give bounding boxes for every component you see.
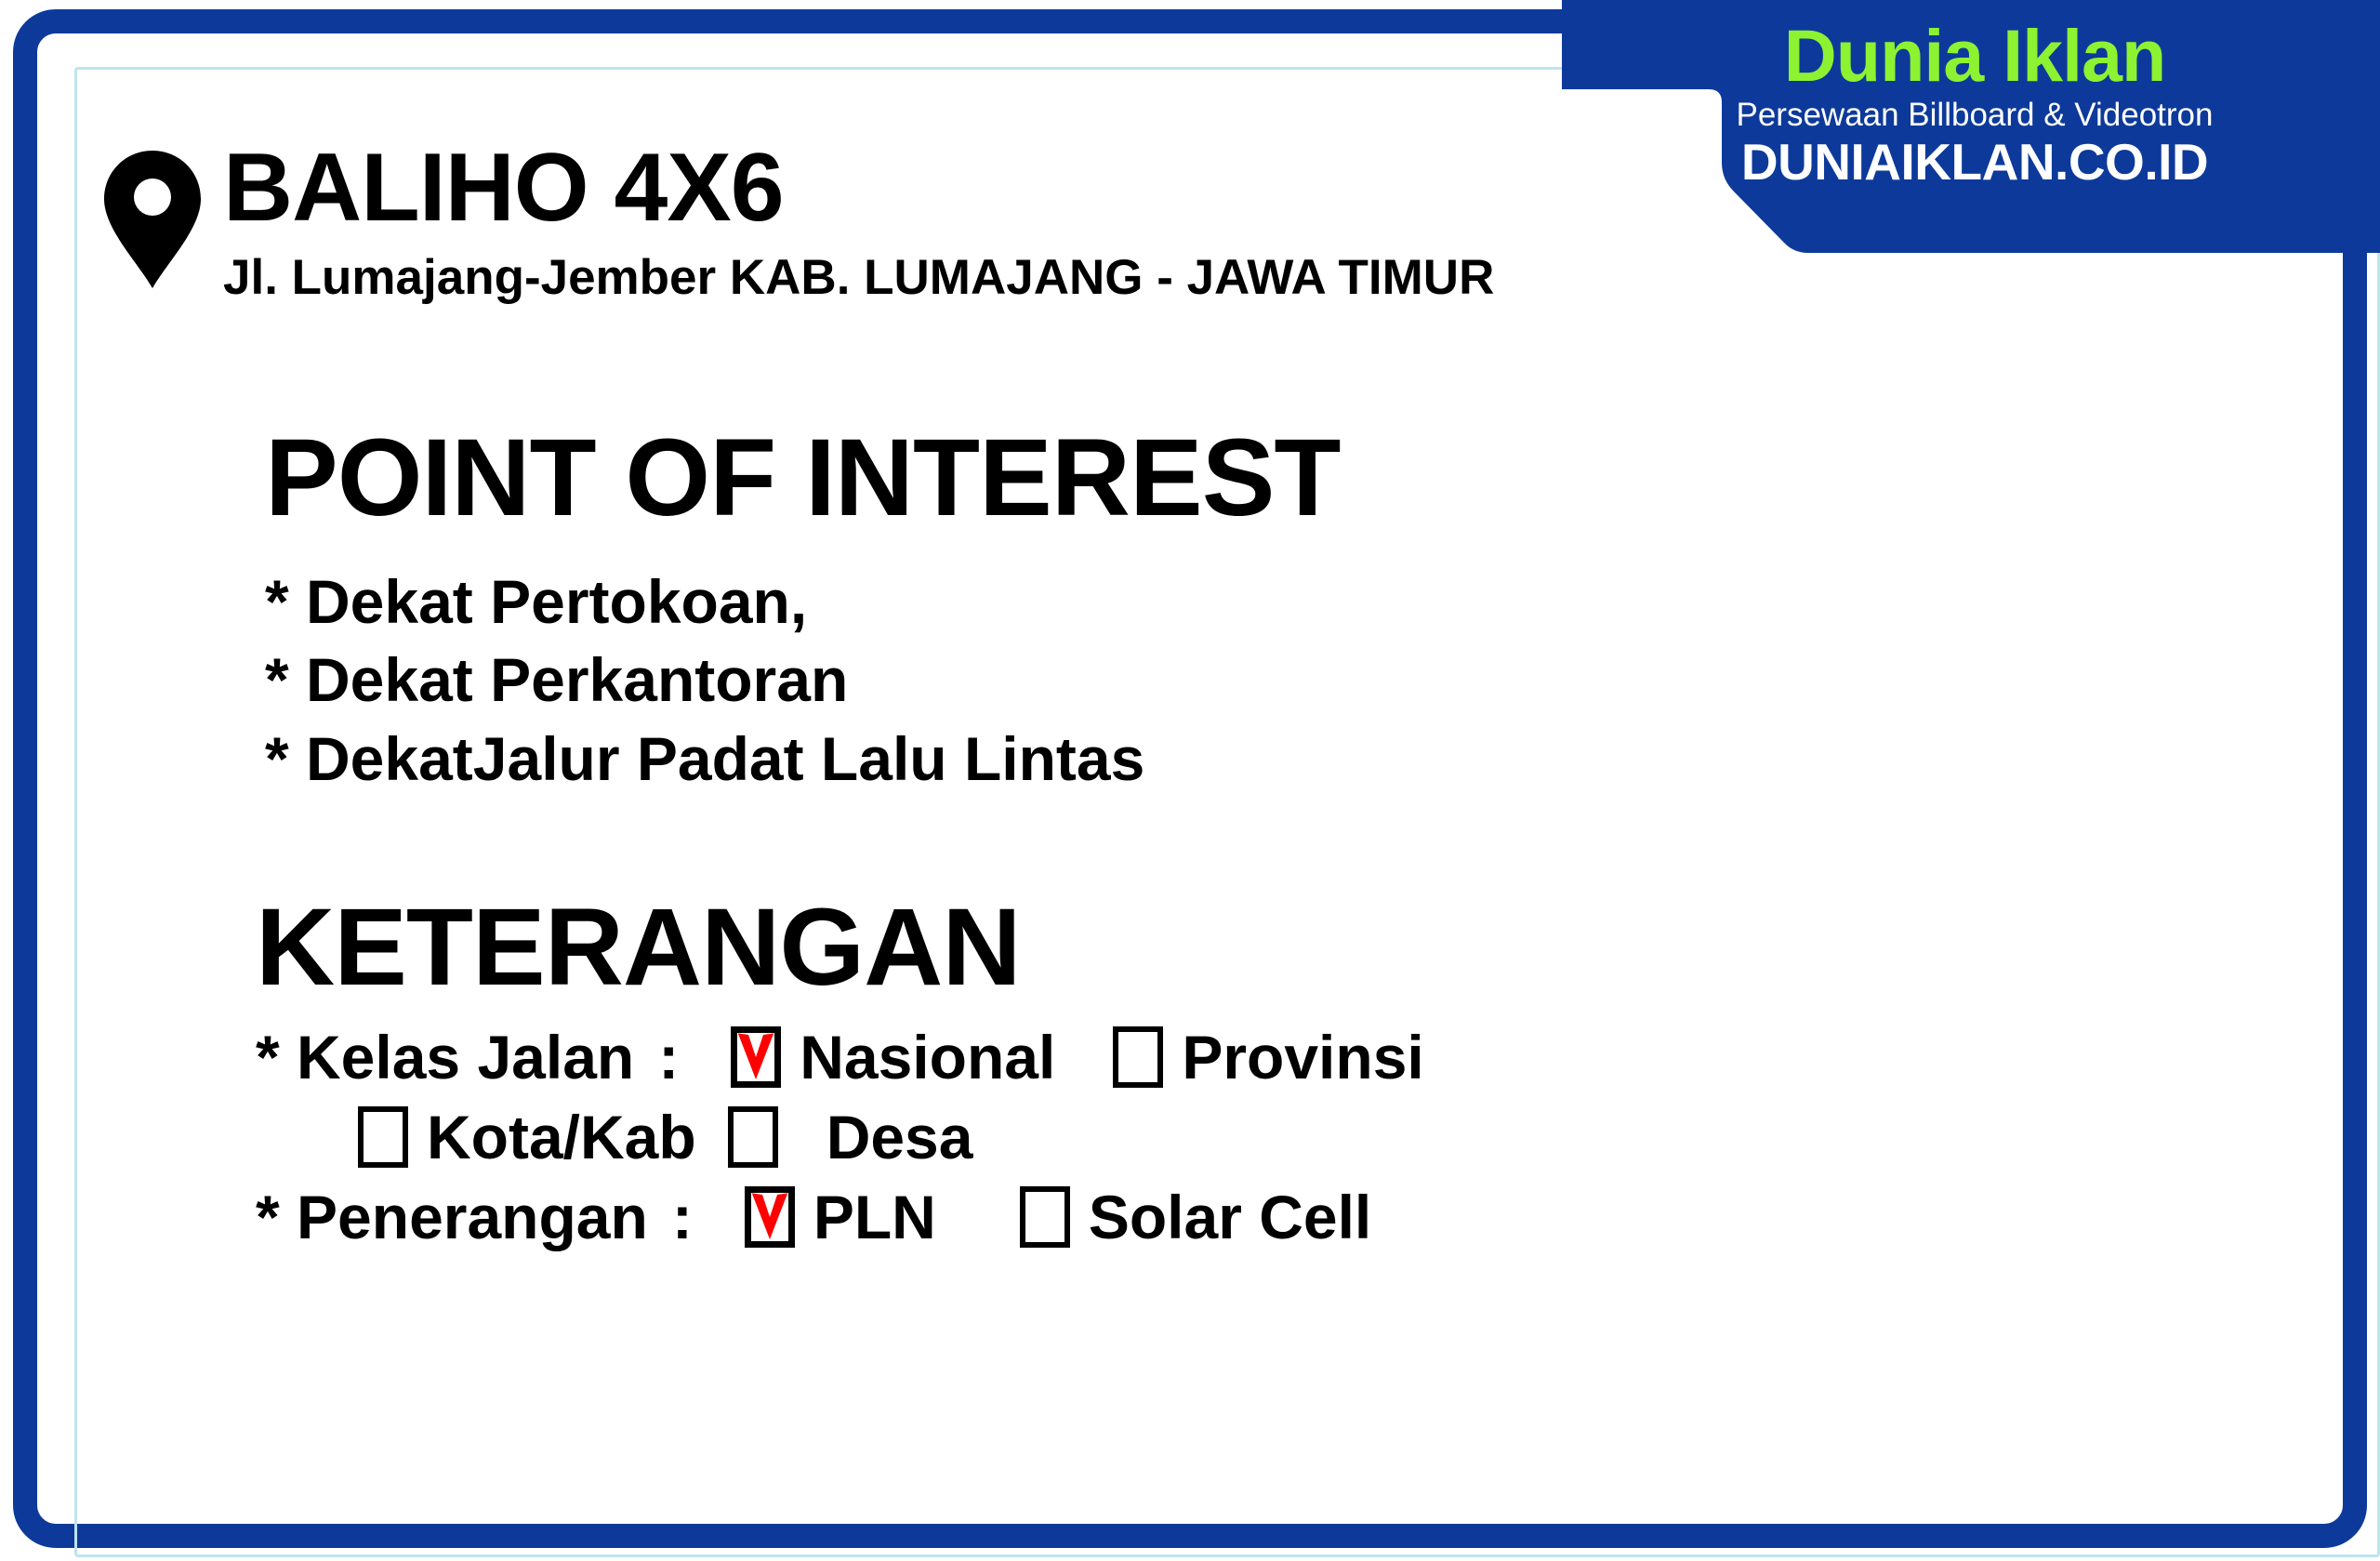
checkbox-kota-kab[interactable] (358, 1106, 408, 1168)
option-label-kota-kab: Kota/Kab (427, 1106, 696, 1168)
option-label-provinsi: Provinsi (1182, 1026, 1423, 1088)
keterangan-heading: KETERANGAN (256, 893, 1424, 1002)
location-pin-glyph (102, 149, 203, 290)
penerangan-label: * Penerangan (256, 1186, 648, 1248)
checkbox-nasional[interactable] (731, 1026, 781, 1088)
checkmark-icon (747, 1189, 792, 1245)
option-label-desa: Desa (826, 1106, 973, 1168)
option-label-nasional: Nasional (800, 1026, 1055, 1088)
brand-tagline: Persewaan Billboard & Videotron (1649, 97, 2300, 134)
point-of-interest-heading: POINT OF INTEREST (265, 423, 1341, 533)
kelas-jalan-colon: : (658, 1026, 679, 1088)
header-text-block: BALIHO 4X6 Jl. Lumajang-Jember KAB. LUMA… (223, 139, 1494, 304)
checkbox-desa[interactable] (728, 1106, 778, 1168)
point-of-interest-section: POINT OF INTEREST * Dekat Pertokoan, * D… (265, 423, 1341, 798)
list-item: * Dekat Pertokoan, (265, 562, 1341, 641)
list-item: * Dekat Perkantoran (265, 641, 1341, 719)
point-of-interest-list: * Dekat Pertokoan, * Dekat Perkantoran *… (265, 562, 1341, 798)
brand-logo-text: Dunia Iklan Persewaan Billboard & Videot… (1649, 20, 2300, 190)
keterangan-row-kelas-jalan: * Kelas Jalan : Nasional Provinsi (256, 1026, 1424, 1088)
option-kota-kab[interactable]: Kota/Kab (358, 1106, 696, 1168)
keterangan-row-penerangan: * Penerangan : PLN Solar Cell (256, 1186, 1424, 1248)
option-label-pln: PLN (813, 1186, 936, 1248)
list-item: * DekatJalur Padat Lalu Lintas (265, 720, 1341, 798)
billboard-header: BALIHO 4X6 Jl. Lumajang-Jember KAB. LUMA… (102, 139, 1494, 304)
penerangan-colon: : (672, 1186, 693, 1248)
billboard-address: Jl. Lumajang-Jember KAB. LUMAJANG - JAWA… (223, 251, 1494, 304)
option-label-solar-cell: Solar Cell (1089, 1186, 1371, 1248)
option-solar-cell[interactable]: Solar Cell (1020, 1186, 1371, 1248)
checkbox-solar-cell[interactable] (1020, 1186, 1070, 1248)
kelas-jalan-label: * Kelas Jalan (256, 1026, 634, 1088)
option-nasional[interactable]: Nasional (731, 1026, 1055, 1088)
option-pln[interactable]: PLN (745, 1186, 936, 1248)
page-title: BALIHO 4X6 (223, 139, 1494, 236)
option-desa[interactable]: Desa (728, 1106, 973, 1168)
brand-website: DUNIAIKLAN.CO.ID (1649, 136, 2300, 190)
checkbox-pln[interactable] (745, 1186, 795, 1248)
keterangan-row-kota-desa: Kota/Kab Desa (256, 1106, 1424, 1168)
checkmark-icon (734, 1029, 778, 1085)
option-provinsi[interactable]: Provinsi (1113, 1026, 1423, 1088)
checkbox-provinsi[interactable] (1113, 1026, 1163, 1088)
location-pin-icon (102, 149, 203, 290)
billboard-info-card: Dunia Iklan Persewaan Billboard & Videot… (0, 0, 2380, 1561)
keterangan-rows: * Kelas Jalan : Nasional Provinsi (256, 1026, 1424, 1248)
brand-name: Dunia Iklan (1649, 20, 2300, 91)
keterangan-section: KETERANGAN * Kelas Jalan : Nasional (256, 893, 1424, 1266)
